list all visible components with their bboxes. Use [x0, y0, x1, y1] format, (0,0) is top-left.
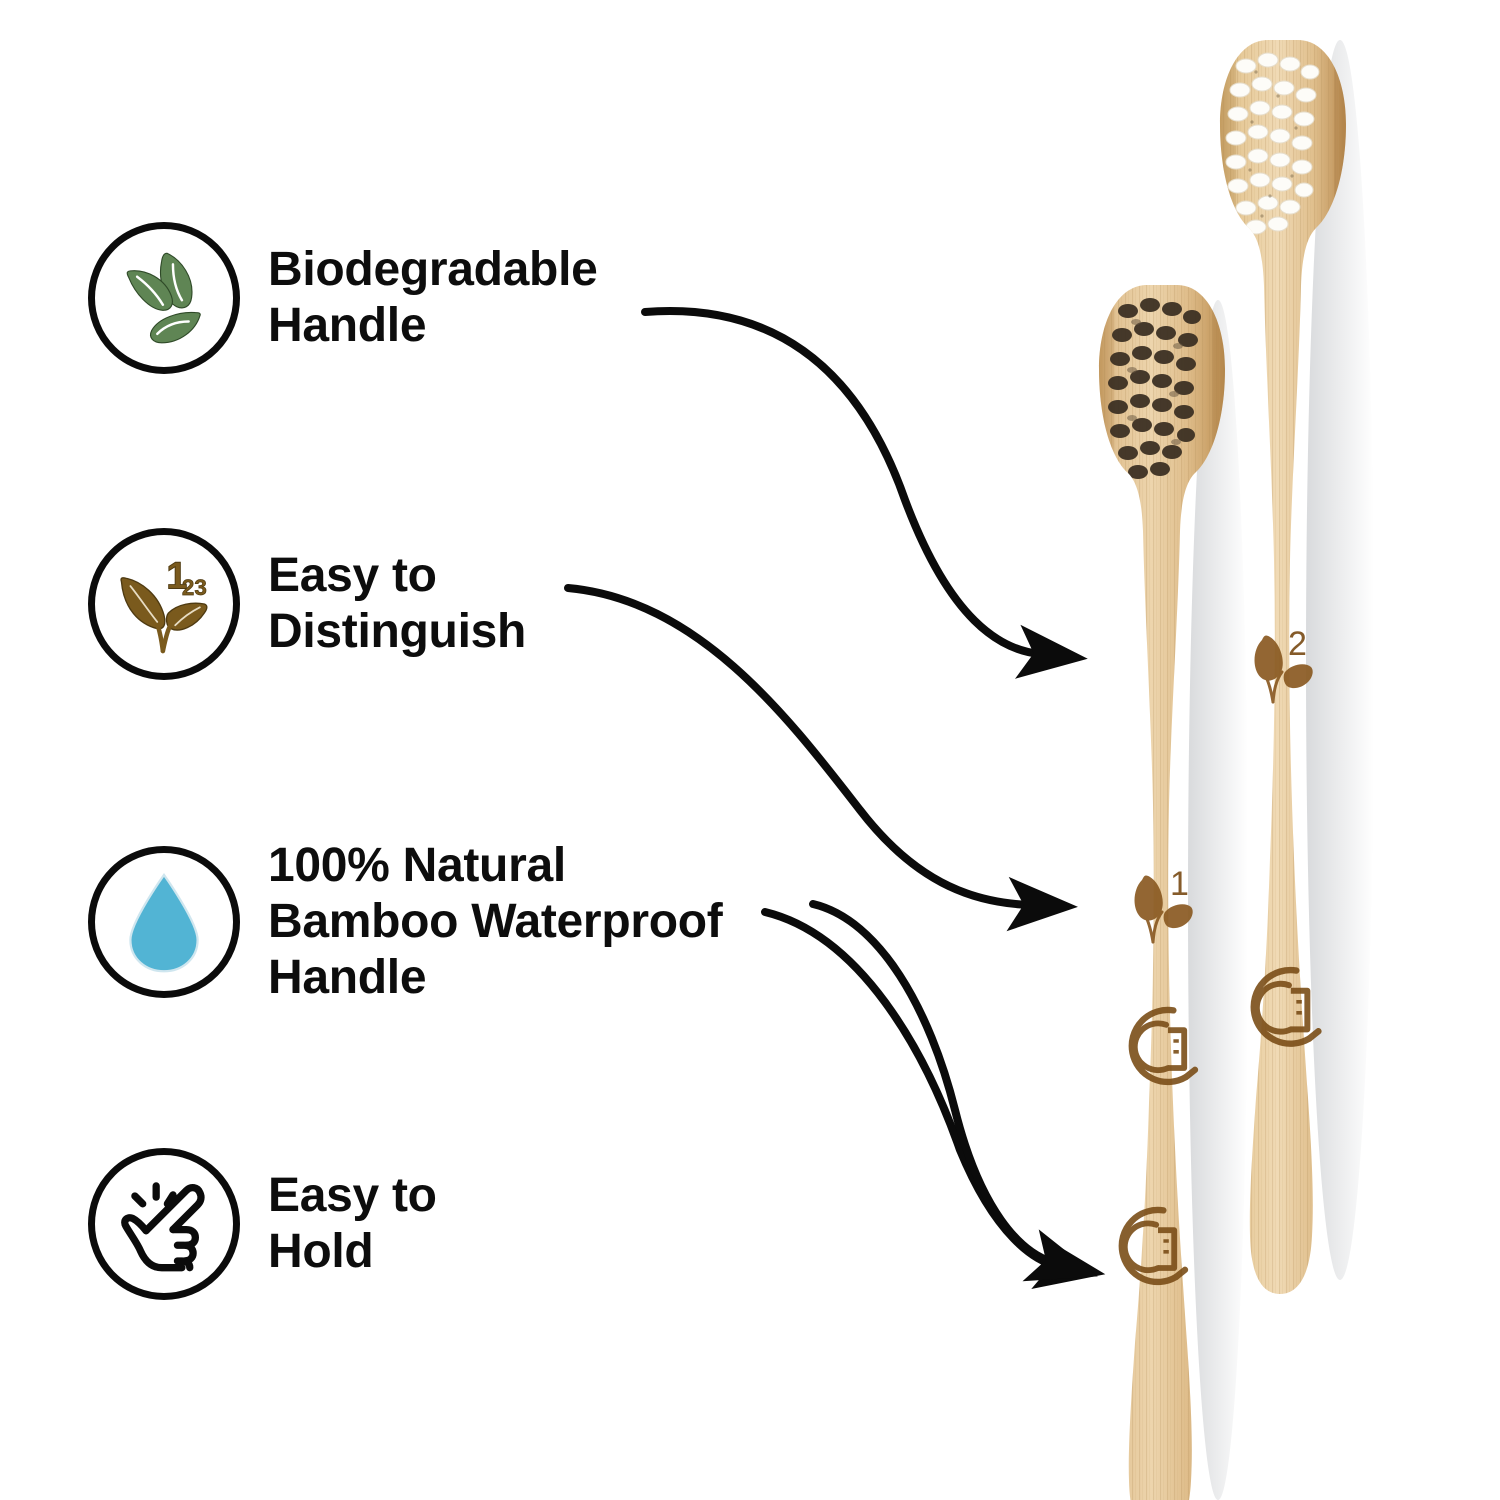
infographic-canvas: Biodegradable Handle 1 23: [0, 0, 1500, 1500]
feature-label-biodegradable-handle: Biodegradable Handle: [268, 242, 598, 354]
feature-row-biodegradable-handle: Biodegradable Handle: [88, 222, 598, 374]
brush-1-number: 1: [1170, 865, 1189, 903]
badge-easy-to-hold: [88, 1148, 240, 1300]
arrow-biodegradable-to-brush-head: [645, 311, 1040, 654]
badge-biodegradable-handle: [88, 222, 240, 374]
water-drop-icon: [108, 866, 220, 978]
feature-label-easy-to-distinguish: Easy to Distinguish: [268, 548, 526, 660]
feature-row-natural-bamboo-waterproof-handle: 100% Natural Bamboo Waterproof Handle: [88, 838, 722, 1006]
feature-row-easy-to-distinguish: 1 23 Easy to Distinguish: [88, 528, 526, 680]
arrow-waterproof-to-handle: [765, 912, 1058, 1266]
three-leaves-recycle-icon: [108, 242, 220, 354]
feature-row-easy-to-hold: Easy to Hold: [88, 1148, 437, 1300]
feature-label-waterproof-handle: 100% Natural Bamboo Waterproof Handle: [268, 838, 722, 1006]
feature-label-easy-to-hold: Easy to Hold: [268, 1168, 437, 1280]
product-photo-toothbrush-pair: 2: [1040, 0, 1500, 1500]
brush-2-number: 2: [1288, 625, 1307, 663]
numbered-leaf-icon: 1 23: [108, 548, 220, 660]
icon-number-secondary: 23: [182, 575, 207, 600]
badge-waterproof-handle: [88, 846, 240, 998]
badge-easy-to-distinguish: 1 23: [88, 528, 240, 680]
tap-hand-icon: [108, 1168, 220, 1280]
arrow-easy-hold-to-grip: [813, 904, 1052, 1262]
